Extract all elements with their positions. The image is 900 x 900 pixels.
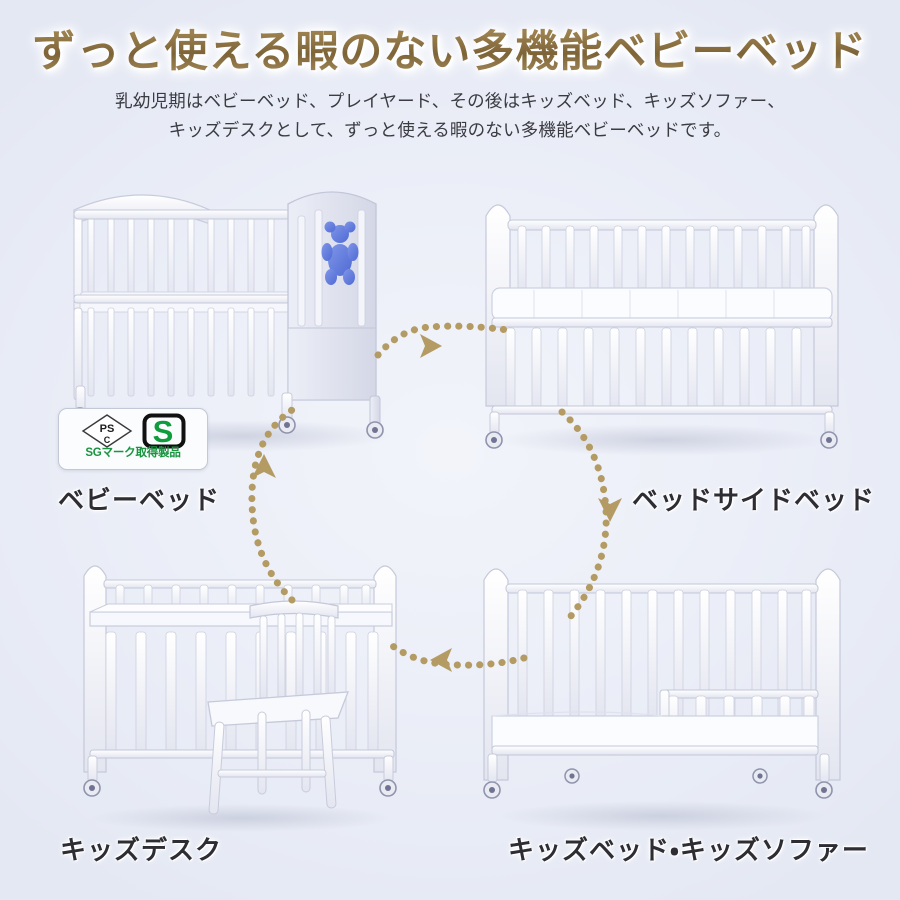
psc-top-letters: PS [99, 423, 114, 435]
subtitle-line-2: キッズデスクとして、ずっと使える暇のない多機能ベビーベッドです。 [0, 116, 900, 145]
sg-mark-icon: S [142, 413, 186, 449]
desk-top [90, 604, 392, 626]
sg-badge-label: SGマーク取得製品 [85, 448, 180, 460]
header: ずっと使える暇のない多機能ベビーベッド 乳幼児期はベビーベッド、プレイヤード、そ… [0, 0, 900, 145]
sg-certification-badge: PS C S SGマーク取得製品 [58, 408, 208, 470]
bedside-bed-illustration [462, 168, 862, 468]
caster-wheels [484, 769, 832, 798]
page-title: ずっと使える暇のない多機能ベビーベッド [0, 0, 900, 77]
infographic-canvas: ずっと使える暇のない多機能ベビーベッド 乳幼児期はベビーベッド、プレイヤード、そ… [0, 0, 900, 900]
panel-bedside-bed[interactable] [462, 168, 862, 468]
caption-kids-desk: キッズデスク [60, 830, 222, 867]
subtitle: 乳幼児期はベビーベッド、プレイヤード、その後はキッズベッド、キッズソファー、 キ… [0, 87, 900, 145]
caption-baby-bed: ベビーベッド [58, 480, 220, 517]
bear-decoration [322, 222, 359, 286]
subtitle-line-1: 乳幼児期はベビーベッド、プレイヤード、その後はキッズベッド、キッズソファー、 [0, 87, 900, 116]
mattress [492, 288, 832, 320]
psc-bottom-letter: C [103, 435, 110, 445]
panel-kids-desk[interactable] [62, 540, 422, 840]
kids-bed-sofa-illustration [462, 540, 862, 840]
sg-mark-letter: S [152, 414, 173, 449]
panel-kids-bed-sofa[interactable] [462, 540, 862, 840]
caster-wheels [84, 780, 396, 796]
caption-bedside-bed: ベッドサイドベッド [632, 480, 875, 517]
caption-kids-bed-sofa: キッズベッド・キッズソファー [508, 830, 869, 867]
mattress [492, 712, 818, 748]
psc-mark-icon: PS C [81, 413, 133, 449]
kids-desk-illustration [62, 540, 422, 840]
